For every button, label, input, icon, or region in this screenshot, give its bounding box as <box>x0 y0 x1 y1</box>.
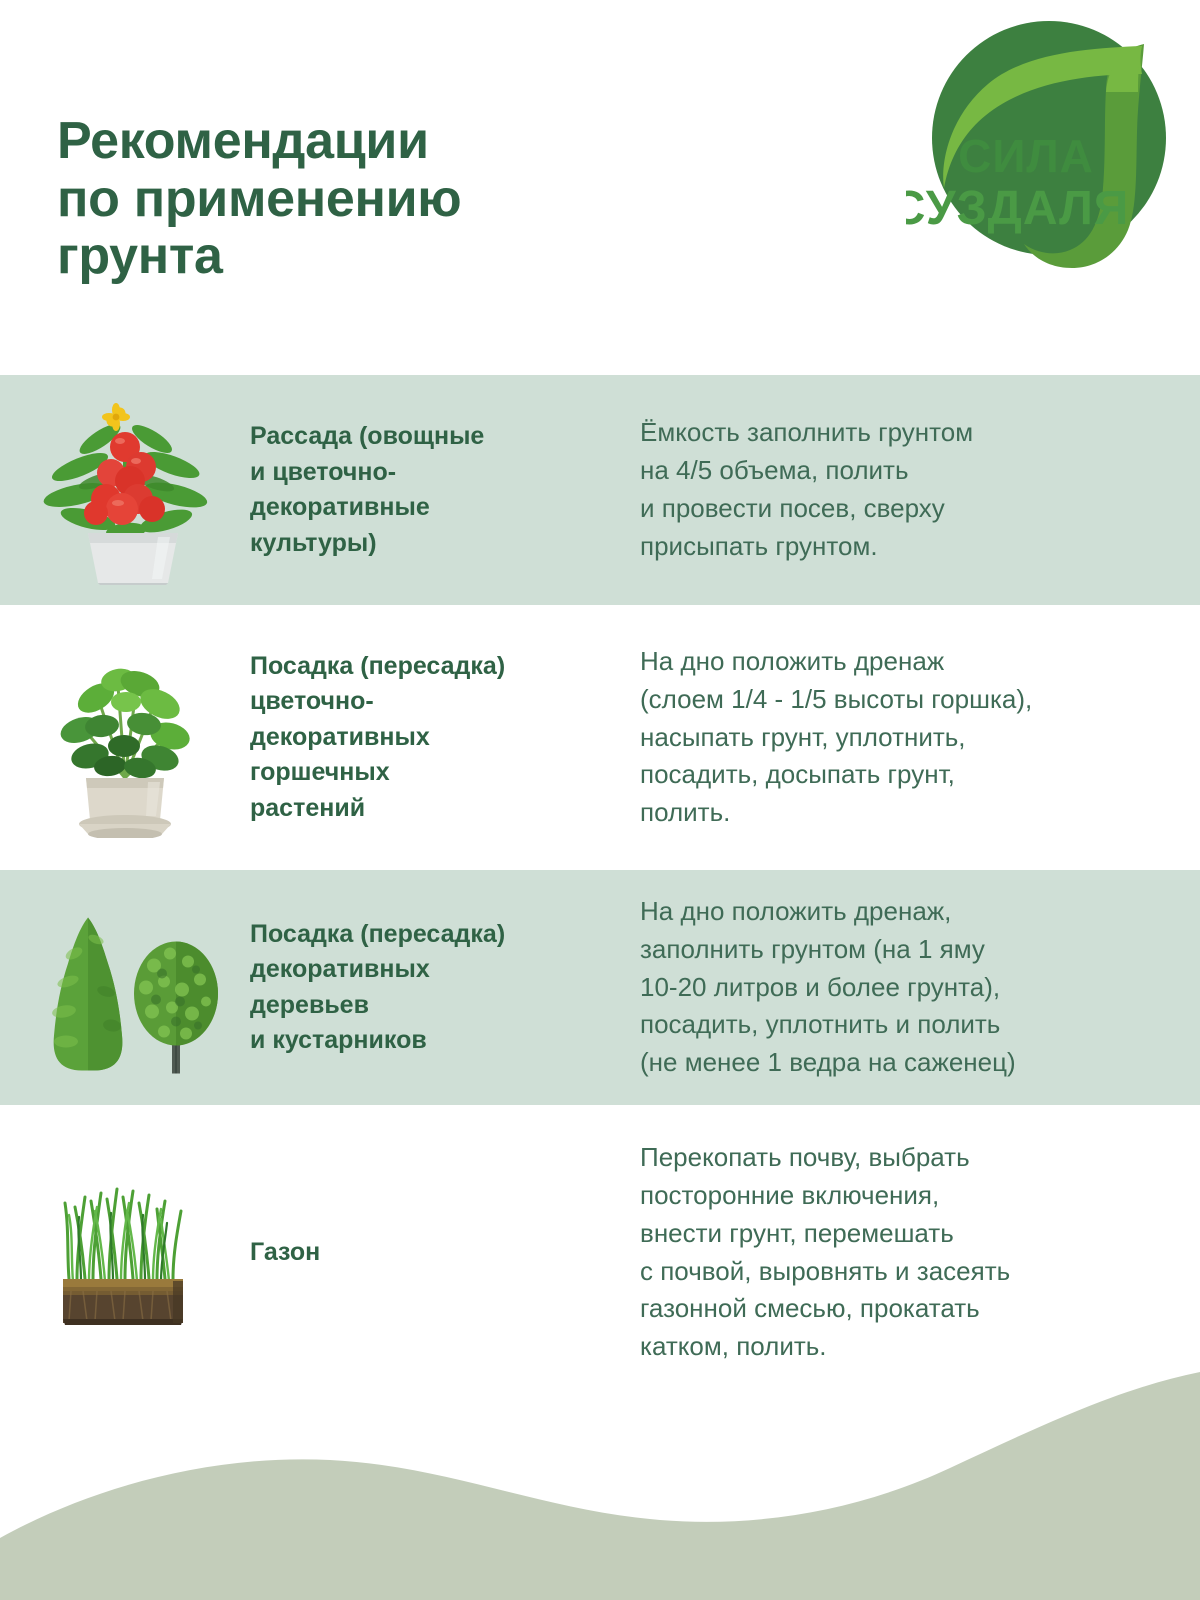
row-image-cell <box>0 375 250 605</box>
recommendations-table: Рассада (овощные и цветочно- декоративны… <box>0 375 1200 1400</box>
potted-tomato-seedling-image <box>40 395 210 585</box>
logo-text-line1: СИЛА <box>958 130 1094 182</box>
conifer-shape <box>51 917 122 1070</box>
row-description: На дно положить дренаж, заполнить грунто… <box>640 893 1200 1083</box>
row-image-cell <box>0 605 250 870</box>
row-label: Газон <box>250 1235 640 1271</box>
logo-text-line2: СУЗДАЛЯ <box>906 182 1129 235</box>
page-title: Рекомендации по применению грунта <box>57 113 677 286</box>
bottom-wave-decoration <box>0 1370 1200 1600</box>
table-row: Посадка (пересадка) цветочно- декоративн… <box>0 605 1200 870</box>
topiary-tree-shape <box>134 941 218 1073</box>
row-image-cell <box>0 1105 250 1400</box>
row-label: Посадка (пересадка) цветочно- декоративн… <box>250 649 640 827</box>
row-label: Рассада (овощные и цветочно- декоративны… <box>250 419 640 561</box>
infographic-page: Рекомендации по применению грунта СИЛА С… <box>0 0 1200 1600</box>
row-label: Посадка (пересадка) декоративных деревье… <box>250 917 640 1059</box>
table-row: Газон Перекопать почву, выбрать посторон… <box>0 1105 1200 1400</box>
brand-logo: СИЛА СУЗДАЛЯ <box>906 12 1182 288</box>
row-description: На дно положить дренаж (слоем 1/4 - 1/5 … <box>640 643 1200 833</box>
table-row: Рассада (овощные и цветочно- декоративны… <box>0 375 1200 605</box>
potted-houseplant-image <box>40 638 210 838</box>
table-row: Посадка (пересадка) декоративных деревье… <box>0 870 1200 1105</box>
row-description: Ёмкость заполнить грунтом на 4/5 объема,… <box>640 414 1200 566</box>
decorative-trees-shrubs-image <box>30 895 220 1080</box>
row-image-cell <box>0 870 250 1105</box>
header: Рекомендации по применению грунта СИЛА С… <box>0 0 1200 375</box>
lawn-turf-block-image <box>35 1163 215 1343</box>
row-description: Перекопать почву, выбрать посторонние вк… <box>640 1139 1200 1367</box>
wave-shape <box>0 1372 1200 1600</box>
